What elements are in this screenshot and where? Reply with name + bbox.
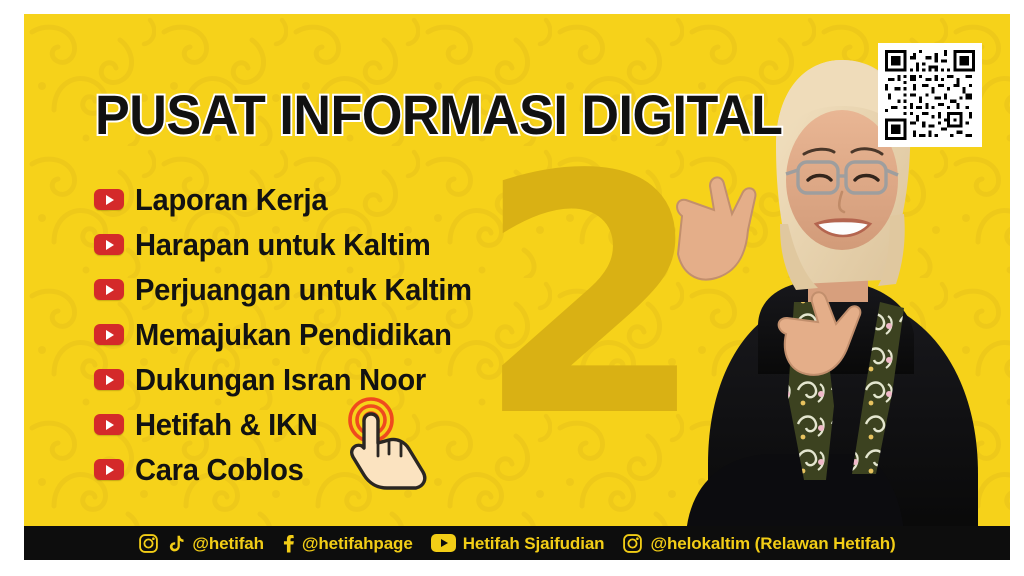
social-handle-facebook: @hetifahpage [302, 535, 413, 552]
menu-item-laporan-kerja[interactable]: Laporan Kerja [94, 177, 493, 222]
tap-hand-pointer-icon [327, 396, 443, 491]
social-bar: @hetifah @hetifahpage Hetifah Sjaifudian… [24, 526, 1010, 560]
tiktok-icon[interactable] [166, 533, 185, 554]
social-handle-youtube: Hetifah Sjaifudian [463, 535, 605, 552]
youtube-play-icon [94, 279, 124, 300]
menu-item-label: Perjuangan untuk Kaltim [135, 273, 472, 306]
youtube-icon[interactable] [431, 534, 456, 552]
menu-item-label: Cara Coblos [135, 453, 304, 486]
social-group-instagram-helokaltim[interactable]: @helokaltim (Relawan Hetifah) [622, 533, 895, 554]
social-handle-helokaltim: @helokaltim (Relawan Hetifah) [650, 535, 895, 552]
menu-item-label: Dukungan Isran Noor [135, 363, 426, 396]
youtube-play-icon [94, 459, 124, 480]
youtube-play-icon [94, 369, 124, 390]
youtube-play-icon [94, 189, 124, 210]
page-title: PUSAT INFORMASI DIGITAL [95, 86, 783, 144]
social-group-facebook[interactable]: @hetifahpage [282, 533, 413, 554]
youtube-play-icon [94, 324, 124, 345]
menu-item-label: Laporan Kerja [135, 183, 327, 216]
youtube-play-icon [94, 414, 124, 435]
menu-item-harapan-untuk-kaltim[interactable]: Harapan untuk Kaltim [94, 222, 493, 267]
menu-item-label: Memajukan Pendidikan [135, 318, 452, 351]
qr-code-icon[interactable] [878, 43, 982, 147]
instagram-icon[interactable] [622, 533, 643, 554]
social-handle-instagram: @hetifah [192, 535, 264, 552]
social-group-instagram-tiktok[interactable]: @hetifah [138, 533, 264, 554]
social-group-youtube[interactable]: Hetifah Sjaifudian [431, 534, 605, 552]
youtube-play-icon [94, 234, 124, 255]
menu-item-label: Harapan untuk Kaltim [135, 228, 431, 261]
facebook-icon[interactable] [282, 533, 295, 554]
poster-banner: 2 [24, 14, 1010, 560]
menu-item-memajukan-pendidikan[interactable]: Memajukan Pendidikan [94, 312, 493, 357]
poster-root: 2 [0, 0, 1024, 576]
menu-item-perjuangan-untuk-kaltim[interactable]: Perjuangan untuk Kaltim [94, 267, 493, 312]
instagram-icon[interactable] [138, 533, 159, 554]
menu-item-label: Hetifah & IKN [135, 408, 318, 441]
